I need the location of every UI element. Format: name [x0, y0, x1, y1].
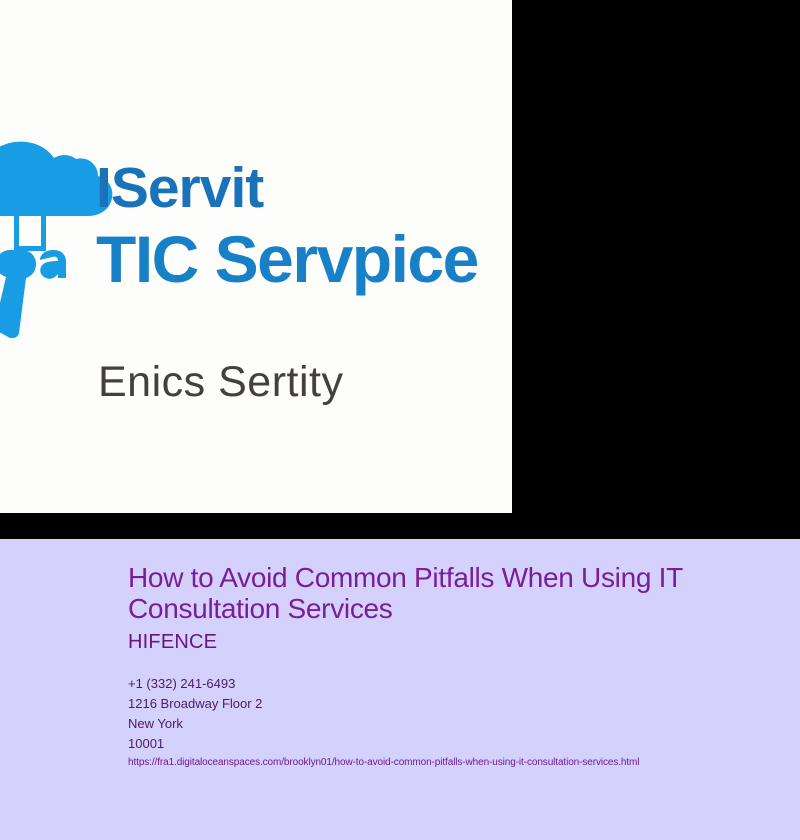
page-title: How to Avoid Common Pitfalls When Using … — [128, 562, 768, 625]
logo-wordmark: IServit TIC Servpice — [96, 160, 512, 297]
source-url[interactable]: https://fra1.digitaloceanspaces.com/broo… — [128, 757, 639, 768]
contact-phone: +1 (332) 241-6493 — [128, 674, 262, 694]
contact-block: +1 (332) 241-6493 1216 Broadway Floor 2 … — [128, 674, 262, 754]
media-area: IServit TIC Servpice Enics Sertity — [0, 0, 800, 539]
brand-name: HIFENCE — [128, 631, 217, 654]
contact-city: New York — [128, 714, 262, 734]
logo-tagline: Enics Sertity — [98, 358, 343, 407]
logo-card: IServit TIC Servpice Enics Sertity — [0, 0, 512, 513]
article-info-panel: How to Avoid Common Pitfalls When Using … — [0, 539, 800, 840]
logo-wordmark-line-1: IServit — [96, 160, 512, 217]
logo-wordmark-line-2: TIC Servpice — [96, 223, 512, 297]
contact-postal-code: 10001 — [128, 734, 262, 754]
contact-street: 1216 Broadway Floor 2 — [128, 694, 262, 714]
